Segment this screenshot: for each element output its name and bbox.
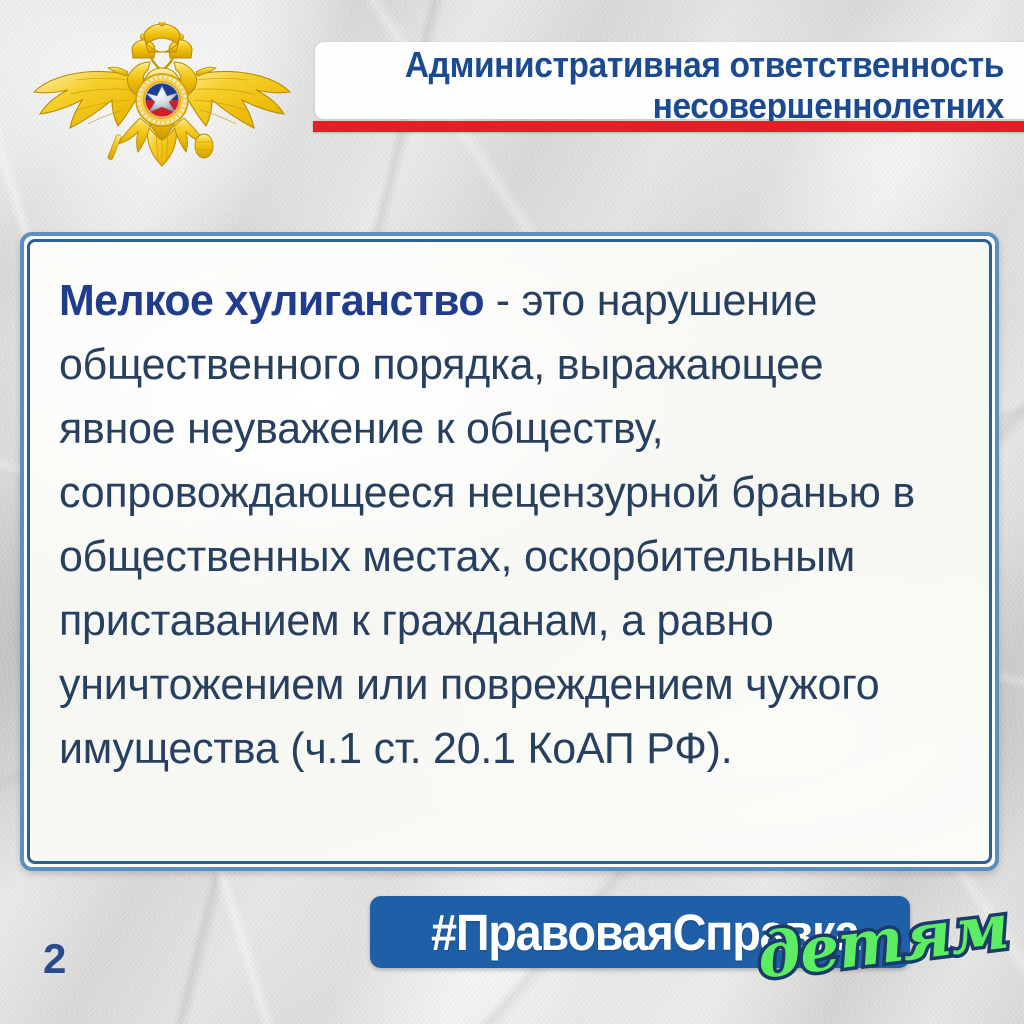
page-number: 2: [43, 938, 66, 980]
poster: Административная ответственность несовер…: [0, 0, 1024, 1024]
hashtag-group: #ПравоваяСправка детям: [370, 896, 1020, 1024]
header-red-rule: [313, 121, 1024, 132]
page-title-line-1: Административная ответственность: [362, 44, 1004, 85]
header-banner: Административная ответственность несовер…: [315, 42, 1024, 119]
page-title-line-2: несовершеннолетних: [362, 85, 1004, 126]
content-card-inner: Мелкое хулиганство - это нарушение общес…: [27, 239, 992, 864]
page-title: Административная ответственность несовер…: [362, 40, 1004, 126]
mvd-eagle-emblem: [28, 22, 296, 172]
definition-text: Мелкое хулиганство - это нарушение общес…: [59, 269, 950, 781]
definition-term: Мелкое хулиганство: [59, 276, 484, 325]
definition-body: - это нарушение общественного порядка, в…: [59, 276, 915, 773]
content-card: Мелкое хулиганство - это нарушение общес…: [20, 232, 999, 871]
